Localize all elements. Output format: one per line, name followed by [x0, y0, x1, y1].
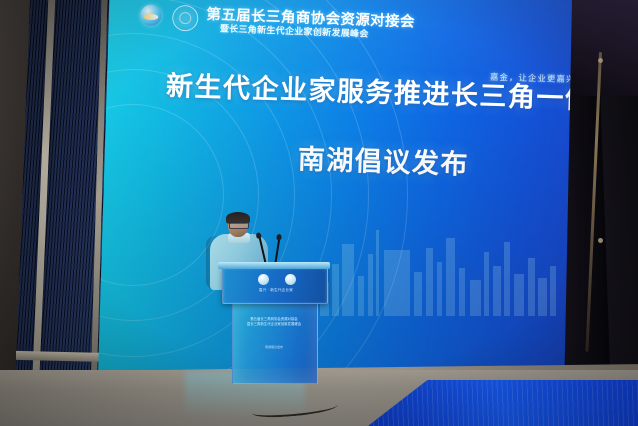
- podium-lectern-lip: [218, 262, 330, 269]
- pole-node-icon: [598, 58, 603, 63]
- podium-top-plate-text: 嘉兴 · 新生代企业家: [244, 288, 308, 293]
- eyeglasses-icon: [229, 222, 249, 229]
- podium-text-line-3: 南湖倡议发布: [247, 345, 301, 349]
- event-main-title: 第五届长三角商协会资源对接会: [206, 3, 415, 32]
- led-screen: 第五届长三角商协会资源对接会 暨长三角新生代企业家创新发展峰会 嘉金，让企业更嘉…: [98, 0, 572, 378]
- podium-front-panel: 第五届长三角商协会资源对接会 暨长三角新生代企业家创新发展峰会 南湖倡议发布: [232, 300, 318, 384]
- event-subtitle: 暨长三角新生代企业家创新发展峰会: [220, 21, 369, 39]
- skyline-graphic: [316, 224, 566, 316]
- podium-emblem-dot-icon: [258, 274, 269, 285]
- screen-header: 第五届长三角商协会资源对接会 暨长三角新生代企业家创新发展峰会: [139, 0, 440, 55]
- seal-ring-logo-icon: [172, 5, 199, 32]
- headline-line-2: 南湖倡议发布: [297, 137, 469, 181]
- emblem-logo-icon: [140, 5, 162, 27]
- podium-text-line-2: 暨长三角新生代企业家创新发展峰会: [239, 322, 309, 327]
- podium-top-box: [222, 266, 328, 304]
- calligraphy-slogan: 嘉金，让企业更嘉兴: [490, 71, 572, 85]
- headline-line-1: 新生代企业家服务推进长三角一体化发展: [166, 64, 572, 119]
- podium-emblem-dot-icon: [285, 274, 296, 285]
- conference-stage-photo: 第五届长三角商协会资源对接会 暨长三角新生代企业家创新发展峰会 嘉金，让企业更嘉…: [0, 0, 638, 426]
- pole-node-icon: [598, 238, 603, 243]
